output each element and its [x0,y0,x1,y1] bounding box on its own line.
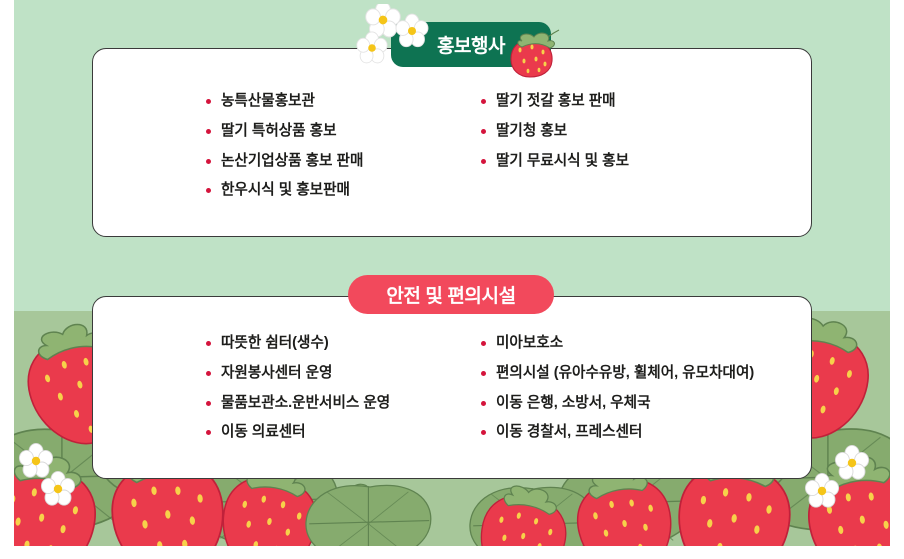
list-item: 딸기 젓갈 홍보 판매 [481,93,811,110]
promo-columns: 농특산물홍보관 딸기 특허상품 홍보 논산기업상품 홍보 판매 한우시식 및 홍… [93,49,811,236]
list-item: 이동 의료센터 [206,424,452,441]
list-item: 딸기 무료시식 및 홍보 [481,153,811,170]
safety-list-right: 미아보호소 편의시설 (유아수유방, 휠체어, 유모차대여) 이동 은행, 소방… [481,335,811,441]
safety-list-left: 따뜻한 쉼터(생수) 자원봉사센터 운영 물품보관소.운반서비스 운영 이동 의… [206,335,452,441]
promo-column-left: 농특산물홍보관 딸기 특허상품 홍보 논산기업상품 홍보 판매 한우시식 및 홍… [93,49,452,236]
section-badge-safety-label: 안전 및 편의시설 [386,281,515,308]
section-card-promo: 농특산물홍보관 딸기 특허상품 홍보 논산기업상품 홍보 판매 한우시식 및 홍… [92,48,812,237]
list-item: 미아보호소 [481,335,811,352]
section-badge-promo-label: 홍보행사 [437,31,505,58]
list-item: 자원봉사센터 운영 [206,365,452,382]
section-badge-safety: 안전 및 편의시설 [348,275,554,314]
list-item: 편의시설 (유아수유방, 휠체어, 유모차대여) [481,365,811,382]
section-badge-promo: 홍보행사 [391,22,551,67]
promo-column-right: 딸기 젓갈 홍보 판매 딸기청 홍보 딸기 무료시식 및 홍보 [452,49,811,236]
list-item: 이동 은행, 소방서, 우체국 [481,395,811,412]
list-item: 이동 경찰서, 프레스센터 [481,424,811,441]
list-item: 딸기 특허상품 홍보 [206,123,452,140]
list-item: 딸기청 홍보 [481,123,811,140]
poster-canvas: 농특산물홍보관 딸기 특허상품 홍보 논산기업상품 홍보 판매 한우시식 및 홍… [14,0,890,546]
promo-list-right: 딸기 젓갈 홍보 판매 딸기청 홍보 딸기 무료시식 및 홍보 [481,93,811,169]
safety-column-left: 따뜻한 쉼터(생수) 자원봉사센터 운영 물품보관소.운반서비스 운영 이동 의… [93,297,452,478]
section-card-safety: 따뜻한 쉼터(생수) 자원봉사센터 운영 물품보관소.운반서비스 운영 이동 의… [92,296,812,479]
promo-list-left: 농특산물홍보관 딸기 특허상품 홍보 논산기업상품 홍보 판매 한우시식 및 홍… [206,93,452,199]
list-item: 논산기업상품 홍보 판매 [206,153,452,170]
list-item: 한우시식 및 홍보판매 [206,182,452,199]
list-item: 농특산물홍보관 [206,93,452,110]
list-item: 물품보관소.운반서비스 운영 [206,395,452,412]
safety-column-right: 미아보호소 편의시설 (유아수유방, 휠체어, 유모차대여) 이동 은행, 소방… [452,297,811,478]
safety-columns: 따뜻한 쉼터(생수) 자원봉사센터 운영 물품보관소.운반서비스 운영 이동 의… [93,297,811,478]
list-item: 따뜻한 쉼터(생수) [206,335,452,352]
